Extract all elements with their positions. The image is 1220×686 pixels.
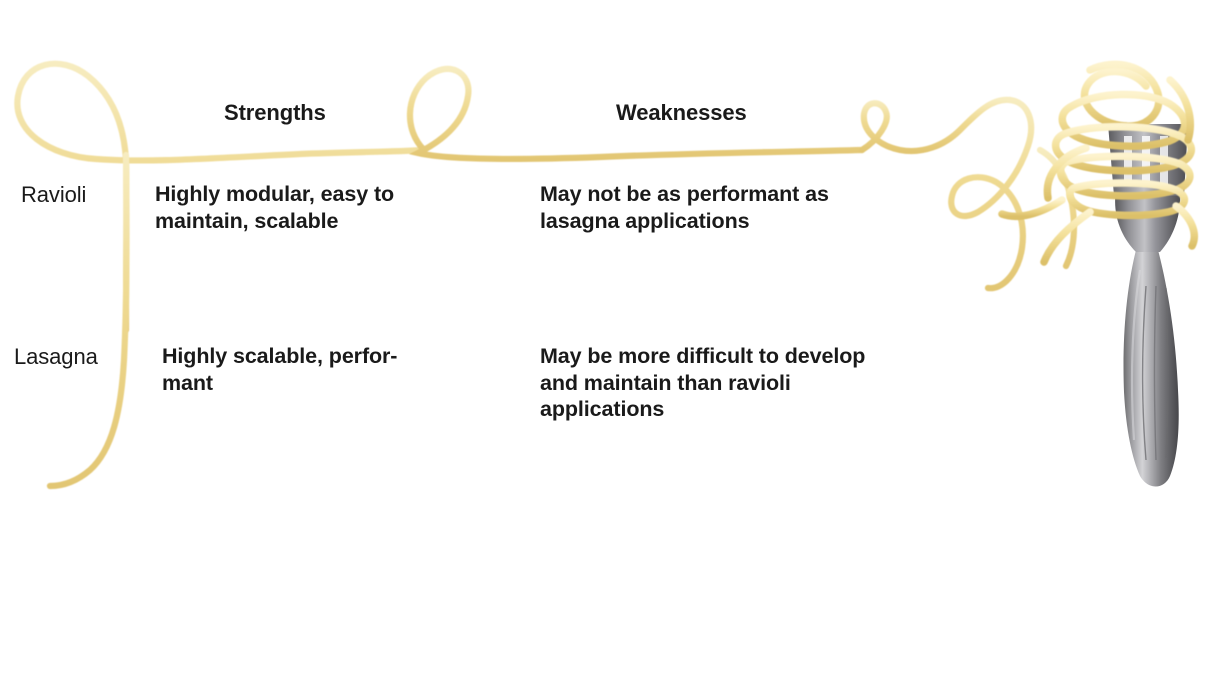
slide-canvas: Strengths Weaknesses Ravioli Highly modu…	[0, 0, 1220, 686]
cell-lasagna-strengths: Highly scalable, perfor- mant	[162, 343, 492, 396]
column-header-weaknesses: Weaknesses	[616, 99, 747, 127]
fork-neck	[1115, 188, 1180, 252]
row-label-ravioli: Ravioli	[21, 181, 86, 209]
fork-tines	[1108, 124, 1188, 196]
cell-ravioli-strengths: Highly modular, easy to maintain, scalab…	[155, 181, 495, 234]
cell-ravioli-weaknesses: May not be as performant as lasagna appl…	[540, 181, 940, 234]
spaghetti-nest	[1002, 64, 1194, 262]
noodle-right-loop-1	[862, 100, 1010, 151]
fork-handle	[1124, 250, 1179, 487]
row-label-lasagna: Lasagna	[14, 343, 98, 371]
noodle-right-tail	[1040, 150, 1074, 266]
fork-with-spaghetti-photo	[940, 40, 1220, 510]
noodle-right-loop-2	[951, 100, 1031, 288]
cell-lasagna-weaknesses: May be more difficult to develop and mai…	[540, 343, 960, 423]
column-header-strengths: Strengths	[224, 99, 326, 127]
